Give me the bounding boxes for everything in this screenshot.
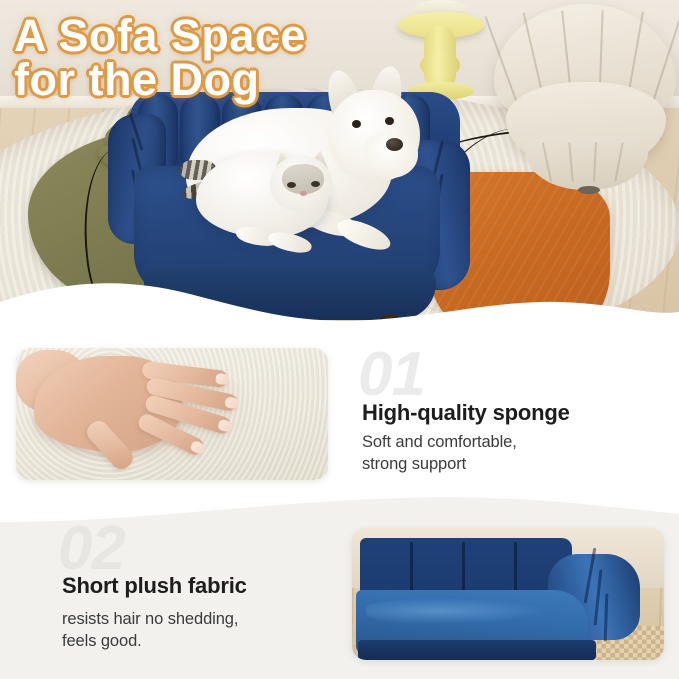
hand-pressing-foam [34,350,250,476]
cat-nose [300,191,307,196]
sofa-skirt [358,640,596,660]
hero-banner: A Sofa Space for the Dog [0,0,679,340]
feature-number-01: 01 [358,344,425,406]
fingernail [189,440,206,456]
feature-title-01: High-quality sponge [362,400,570,426]
arm-channel-line [604,593,609,641]
foam-photo-card [16,348,328,480]
hero-title: A Sofa Space for the Dog [14,14,306,102]
velvet-sheen [366,598,546,624]
cat-face-mask [282,164,324,194]
arm-channel-line [594,569,603,625]
feature-number-02: 02 [58,518,125,580]
cat-eye-right [311,181,320,187]
arm-channel-line [584,548,597,604]
dog-eye-right [385,117,394,125]
cat-eye-left [287,182,296,188]
product-infographic: A Sofa Space for the Dog 01 High-quality… [0,0,679,679]
feature-desc-01: Soft and comfortable, strong support [362,431,662,476]
chair-skirt-flute [542,142,552,182]
accent-chair [486,4,679,204]
feature-desc-02-line-1: resists hair no shedding, [62,608,362,630]
dog-nose [386,138,403,151]
hero-title-line-2: for the Dog [14,58,306,102]
feature-desc-02-line-2: feels good. [62,630,362,652]
feature-desc-01-line-1: Soft and comfortable, [362,431,662,453]
feature-desc-01-line-2: strong support [362,453,662,475]
chair-skirt [526,136,648,190]
cat-leg [267,229,314,256]
feature-desc-02: resists hair no shedding, feels good. [62,608,362,653]
wave-divider [0,272,679,340]
white-cat [196,142,356,260]
chair-skirt-flute [593,142,597,182]
dog-eye-left [352,120,361,128]
feature-title-02: Short plush fabric [62,573,247,599]
chair-skirt-flute [568,142,573,182]
fingernail [224,396,240,410]
fingernail [217,419,234,434]
fingernail [215,373,230,386]
blue-sofa-photo-card [352,528,664,660]
chair-foot [578,186,600,194]
chair-skirt-flute [614,142,624,182]
